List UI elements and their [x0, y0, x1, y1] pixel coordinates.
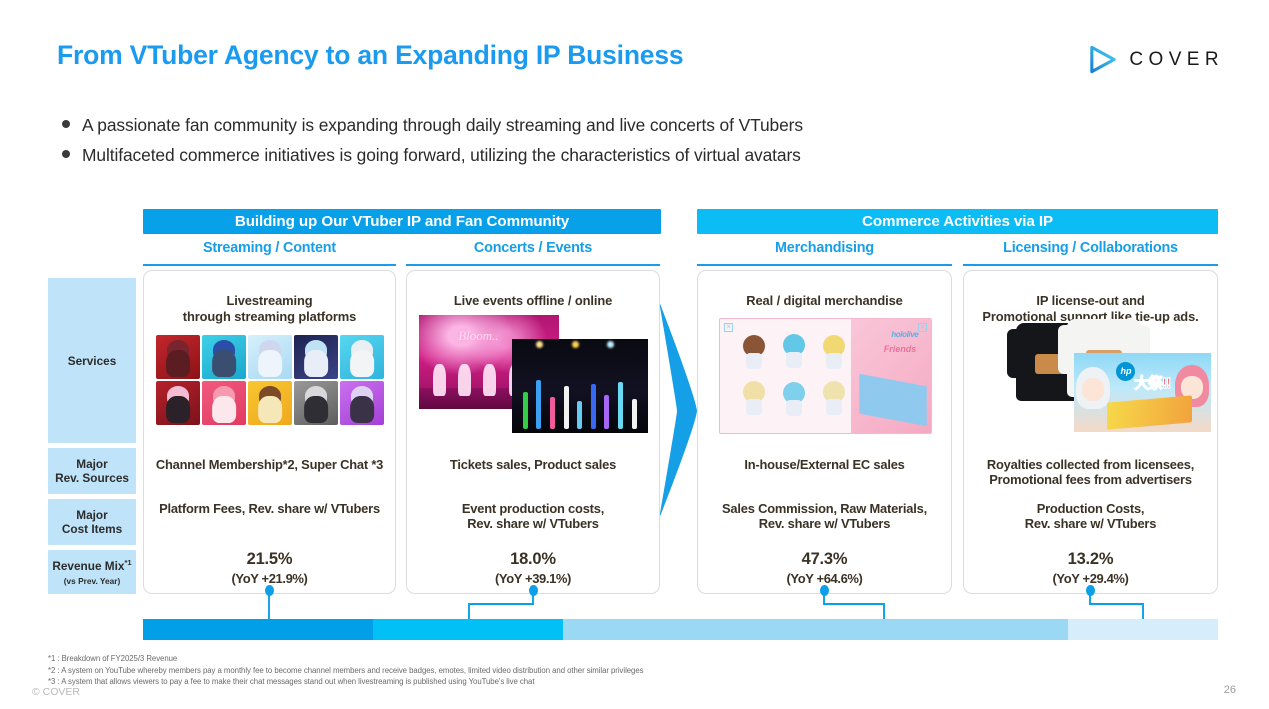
column-header-merchandising: Merchandising: [697, 240, 952, 266]
chibi-figure: [741, 381, 767, 415]
connector-dot: [265, 585, 274, 596]
vtuber-thumbnail: [156, 335, 200, 379]
column-card-concerts: Live events offline / online Bloom.. Tic…: [406, 270, 660, 594]
vtuber-thumbnail: [294, 381, 338, 425]
copyright-text: © COVER: [32, 686, 80, 698]
hololive-friends-merch-ad: hololive Friends ✕ ✕: [719, 318, 932, 434]
chibi-figure: [821, 335, 847, 369]
connector-dot: [529, 585, 538, 596]
bloom-logo-text: Bloom..: [458, 328, 498, 344]
chibi-figure: [781, 382, 807, 416]
vtuber-thumbnail: [156, 381, 200, 425]
revenue-bar-segment-streaming: [143, 619, 373, 640]
revenue-yoy: (YoY +64.6%): [698, 571, 951, 586]
section-header-vtuber-ip: Building up Our VTuber IP and Fan Commun…: [143, 209, 661, 234]
close-icon: ✕: [724, 323, 733, 332]
footnote-3: *3 : A system that allows viewers to pay…: [48, 676, 643, 688]
revenue-percent: 18.0%: [407, 550, 659, 569]
service-description: Live events offline / online: [407, 293, 659, 309]
bullet-dot-icon: [62, 150, 70, 158]
row-label-major-rev-sources: Major Rev. Sources: [48, 448, 136, 494]
cost-items-text: Event production costs, Rev. share w/ VT…: [407, 501, 659, 531]
revenue-percent: 21.5%: [144, 550, 395, 569]
revenue-bar-segment-concerts: [373, 619, 563, 640]
revenue-sources-text: Channel Membership*2, Super Chat *3: [144, 457, 395, 472]
flow-arrow-icon: [655, 295, 701, 525]
vtuber-thumbnail: [340, 335, 384, 379]
chibi-figure: [821, 381, 847, 415]
logo-text: COVER: [1129, 49, 1224, 71]
revenue-sources-text: Royalties collected from licensees, Prom…: [964, 457, 1217, 487]
row-label-text-2: Rev. Sources: [55, 471, 129, 485]
row-label-major-cost-items: Major Cost Items: [48, 499, 136, 545]
revenue-sources-text: Tickets sales, Product sales: [407, 457, 659, 472]
page-title: From VTuber Agency to an Expanding IP Bu…: [57, 40, 683, 71]
footnote-marker: *1: [124, 558, 131, 567]
hp-logo-icon: hp: [1116, 362, 1135, 381]
revenue-yoy: (YoY +21.9%): [144, 571, 395, 586]
row-label-text: Major: [76, 457, 107, 471]
footnote-2: *2 : A system on YouTube whereby members…: [48, 665, 643, 677]
chibi-figure: [781, 334, 807, 368]
vtuber-thumbnail: [248, 381, 292, 425]
chibi-figure: [741, 335, 767, 369]
revenue-bar-segment-merchandising: [563, 619, 1068, 640]
column-header-licensing: Licensing / Collaborations: [963, 240, 1218, 266]
row-label-text: Services: [68, 354, 117, 368]
vtuber-thumbnail: [202, 381, 246, 425]
revenue-yoy: (YoY +39.1%): [407, 571, 659, 586]
row-label-text: Major: [76, 508, 107, 522]
column-header-concerts: Concerts / Events: [406, 240, 660, 266]
column-card-streaming: Livestreaming through streaming platform…: [143, 270, 396, 594]
friends-brand-text: Friends: [884, 344, 917, 354]
revenue-percent: 47.3%: [698, 550, 951, 569]
footnote-1: *1 : Breakdown of FY2025/3 Revenue: [48, 653, 643, 665]
cover-logo: COVER: [1087, 44, 1224, 75]
column-card-merchandising: Real / digital merchandise hololive Frie…: [697, 270, 952, 594]
row-label-text: Revenue Mix*1: [52, 556, 131, 573]
row-label-text-2: Cost Items: [62, 522, 122, 536]
cost-items-text: Sales Commission, Raw Materials, Rev. sh…: [698, 501, 951, 531]
vtuber-character-left: [1076, 367, 1110, 409]
japanese-headline-text: 大祭!!: [1134, 372, 1170, 393]
list-item: A passionate fan community is expanding …: [62, 115, 803, 136]
revenue-bar-segment-licensing: [1068, 619, 1218, 640]
column-header-streaming: Streaming / Content: [143, 240, 396, 266]
column-card-licensing: IP license-out and Promotional support l…: [963, 270, 1218, 594]
hp-tieup-ad-banner: hp 大祭!!: [1074, 353, 1211, 432]
revenue-sources-text: In-house/External EC sales: [698, 457, 951, 472]
vtuber-thumbnail: [248, 335, 292, 379]
concert-crowd-photo: [512, 339, 648, 433]
vtuber-thumbnail: [294, 335, 338, 379]
bullet-text: A passionate fan community is expanding …: [82, 115, 803, 136]
service-description: Real / digital merchandise: [698, 293, 951, 309]
close-icon: ✕: [918, 323, 927, 332]
vtuber-thumbnail: [202, 335, 246, 379]
section-header-commerce: Commerce Activities via IP: [697, 209, 1218, 234]
list-item: Multifaceted commerce initiatives is goi…: [62, 145, 803, 166]
hololive-brand-text: hololive: [891, 330, 918, 339]
vtuber-thumbnail: [340, 381, 384, 425]
revenue-percent: 13.2%: [964, 550, 1217, 569]
connector-dot: [1086, 585, 1095, 596]
bullet-text: Multifaceted commerce initiatives is goi…: [82, 145, 801, 166]
service-description: Livestreaming through streaming platform…: [144, 293, 395, 324]
page-number: 26: [1224, 684, 1236, 696]
play-triangle-icon: [1087, 44, 1118, 75]
cost-items-text: Production Costs, Rev. share w/ VTubers: [964, 501, 1217, 531]
vtuber-thumbnail-grid: [156, 335, 384, 425]
row-label-services: Services: [48, 278, 136, 443]
footnotes: *1 : Breakdown of FY2025/3 Revenue *2 : …: [48, 653, 643, 688]
cost-items-text: Platform Fees, Rev. share w/ VTubers: [144, 501, 395, 516]
connector-dot: [820, 585, 829, 596]
revenue-yoy: (YoY +29.4%): [964, 571, 1217, 586]
bullet-list: A passionate fan community is expanding …: [62, 115, 803, 175]
slide-root: From VTuber Agency to an Expanding IP Bu…: [0, 0, 1269, 709]
bullet-dot-icon: [62, 120, 70, 128]
